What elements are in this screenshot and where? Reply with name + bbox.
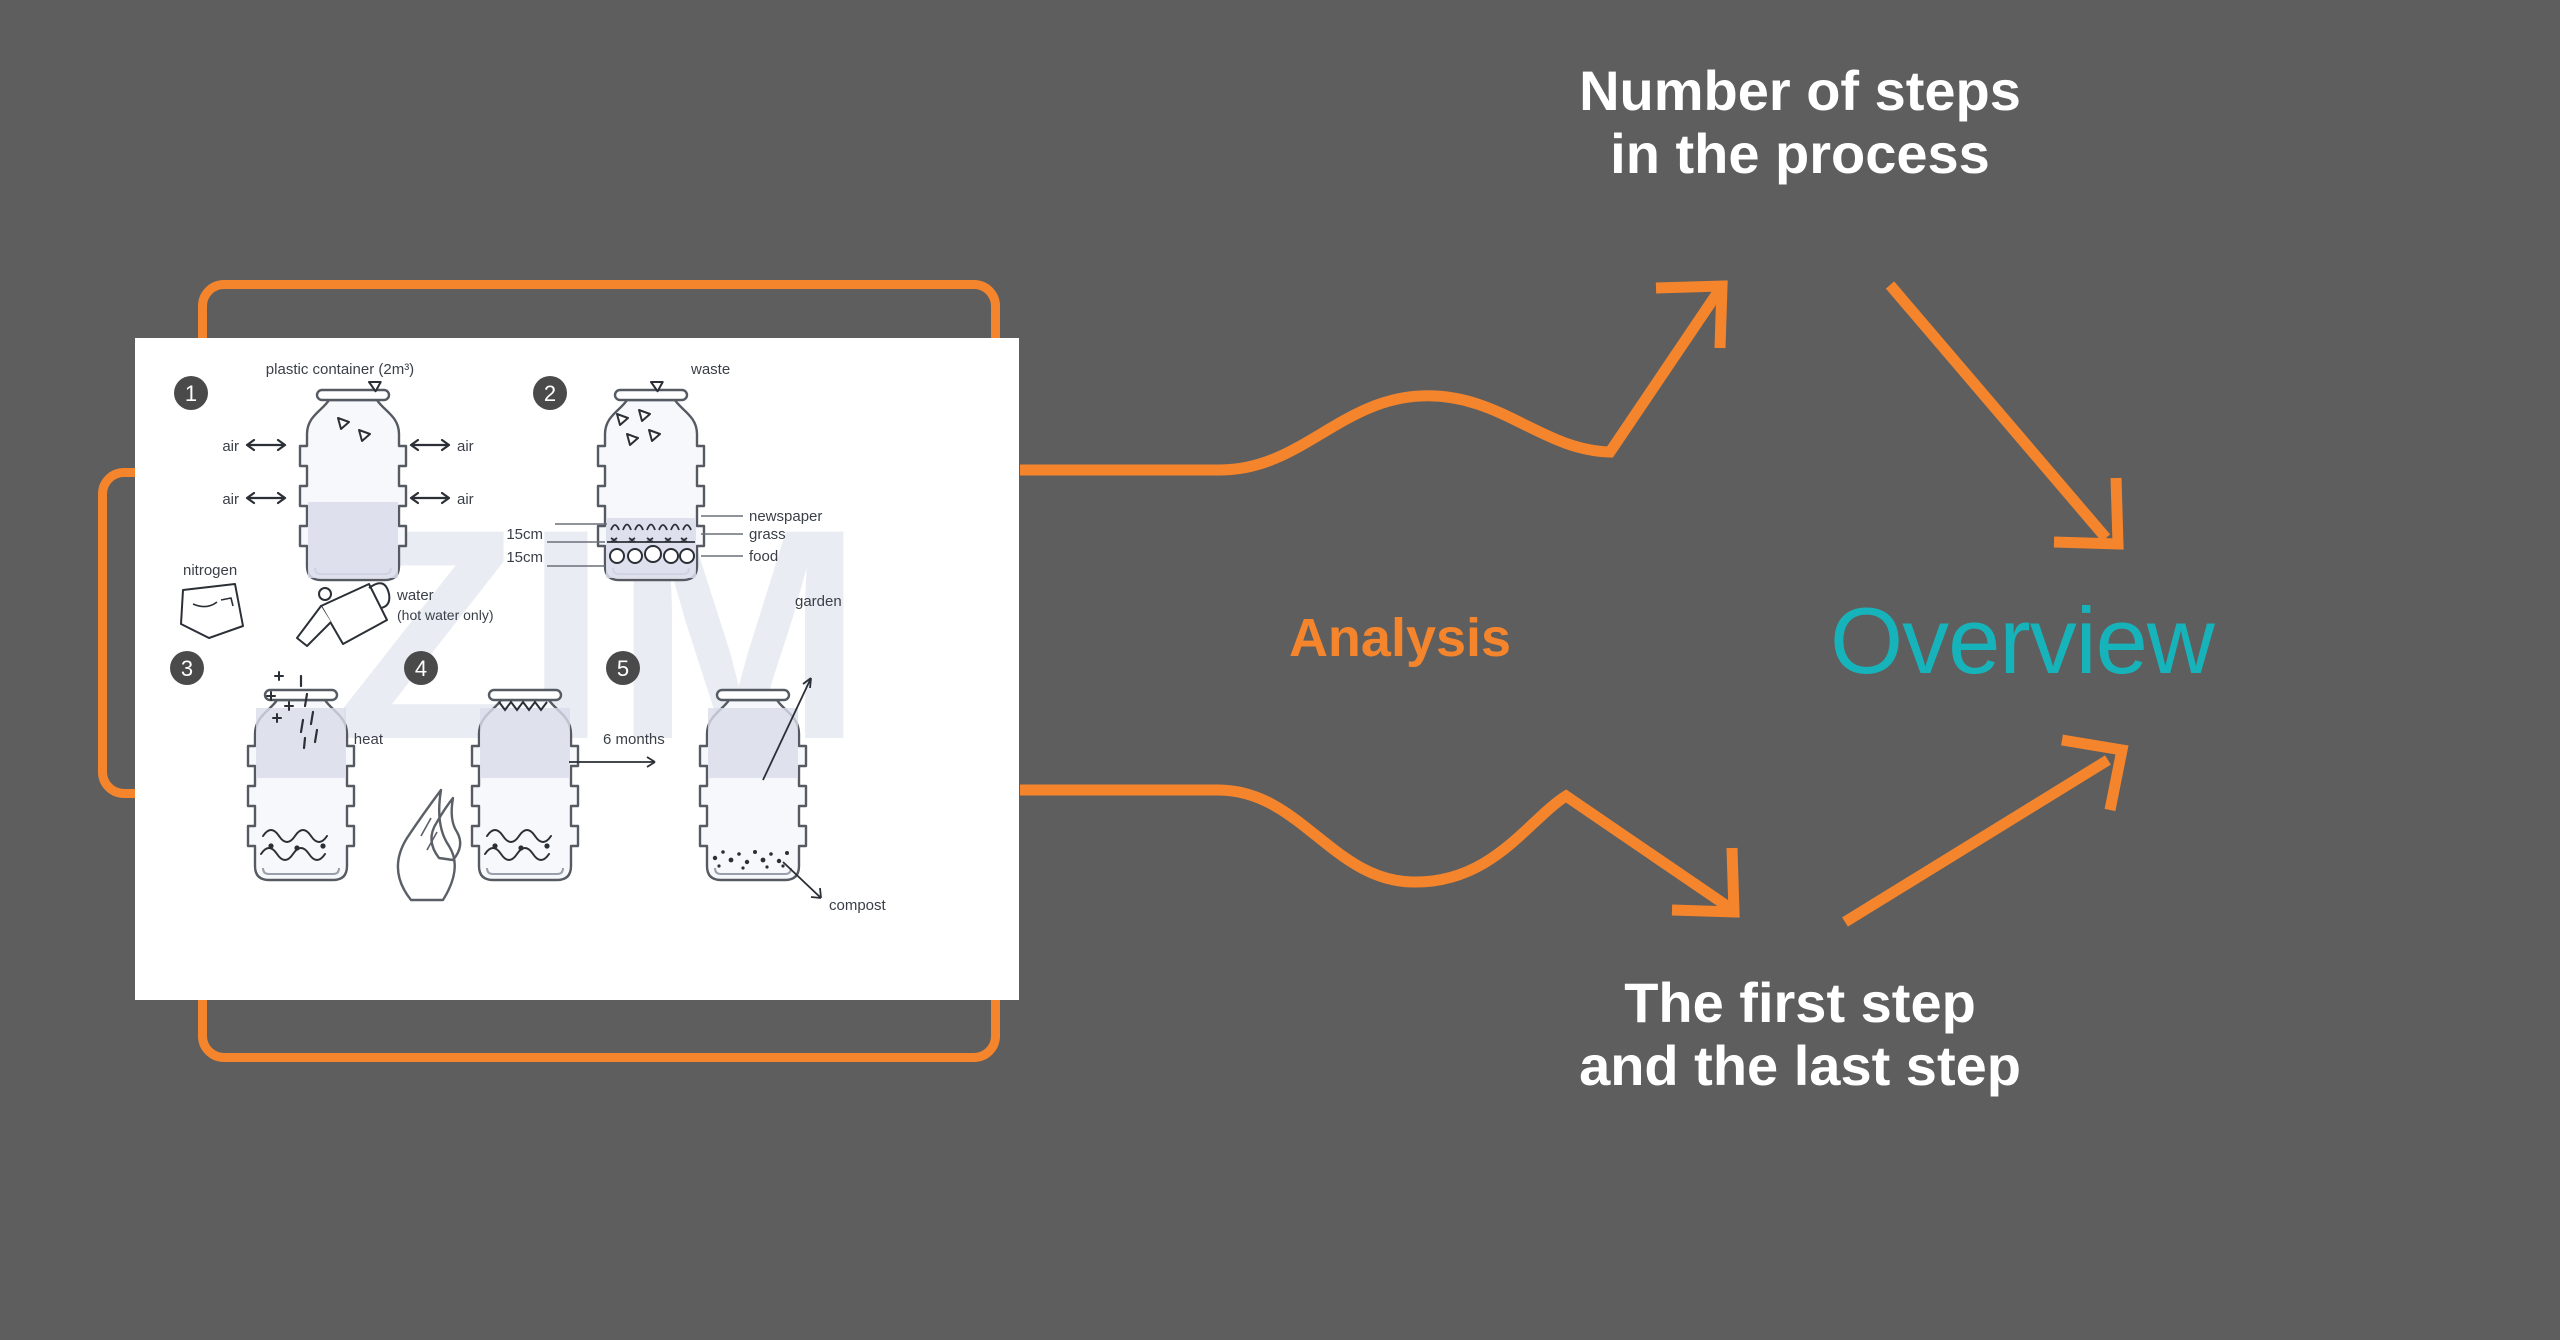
arrow-card-to-firstlast (1020, 790, 1734, 912)
svg-text:15cm: 15cm (506, 526, 543, 543)
svg-text:plastic container (2m³): plastic container (2m³) (266, 361, 414, 378)
heading-number-of-steps: Number of steps in the process (1430, 60, 2170, 185)
svg-text:water: water (396, 587, 434, 604)
slide-canvas: ZIM 1 plastic container (2m³) (0, 0, 2560, 1340)
svg-text:nitrogen: nitrogen (183, 562, 237, 579)
svg-text:newspaper: newspaper (749, 508, 822, 525)
label-analysis: Analysis (1120, 608, 1680, 668)
heading-first-and-last-step: The first step and the last step (1430, 972, 2170, 1097)
svg-text:air: air (457, 491, 474, 508)
svg-text:air: air (222, 491, 239, 508)
label-overview: Overview (1830, 588, 2550, 693)
svg-text:(hot water only): (hot water only) (397, 607, 493, 623)
svg-text:food: food (749, 548, 778, 565)
compost-process-diagram: ZIM 1 plastic container (2m³) (135, 338, 1019, 1000)
svg-text:air: air (222, 438, 239, 455)
svg-text:air: air (457, 438, 474, 455)
svg-text:5: 5 (617, 656, 629, 681)
svg-text:15cm: 15cm (506, 549, 543, 566)
arrow-card-to-steps (1020, 286, 1722, 470)
svg-text:2: 2 (544, 381, 556, 406)
svg-text:waste: waste (690, 361, 730, 378)
svg-text:heat: heat (354, 731, 384, 748)
svg-text:6 months: 6 months (603, 731, 665, 748)
arrow-steps-to-overview (1890, 285, 2118, 544)
svg-text:garden: garden (795, 593, 842, 610)
svg-text:4: 4 (415, 656, 427, 681)
svg-text:1: 1 (185, 381, 197, 406)
svg-text:grass: grass (749, 526, 786, 543)
arrow-firstlast-to-overview (1845, 740, 2122, 922)
svg-text:compost: compost (829, 897, 887, 914)
process-diagram-card[interactable]: ZIM 1 plastic container (2m³) (135, 338, 1019, 1000)
svg-text:3: 3 (181, 656, 193, 681)
